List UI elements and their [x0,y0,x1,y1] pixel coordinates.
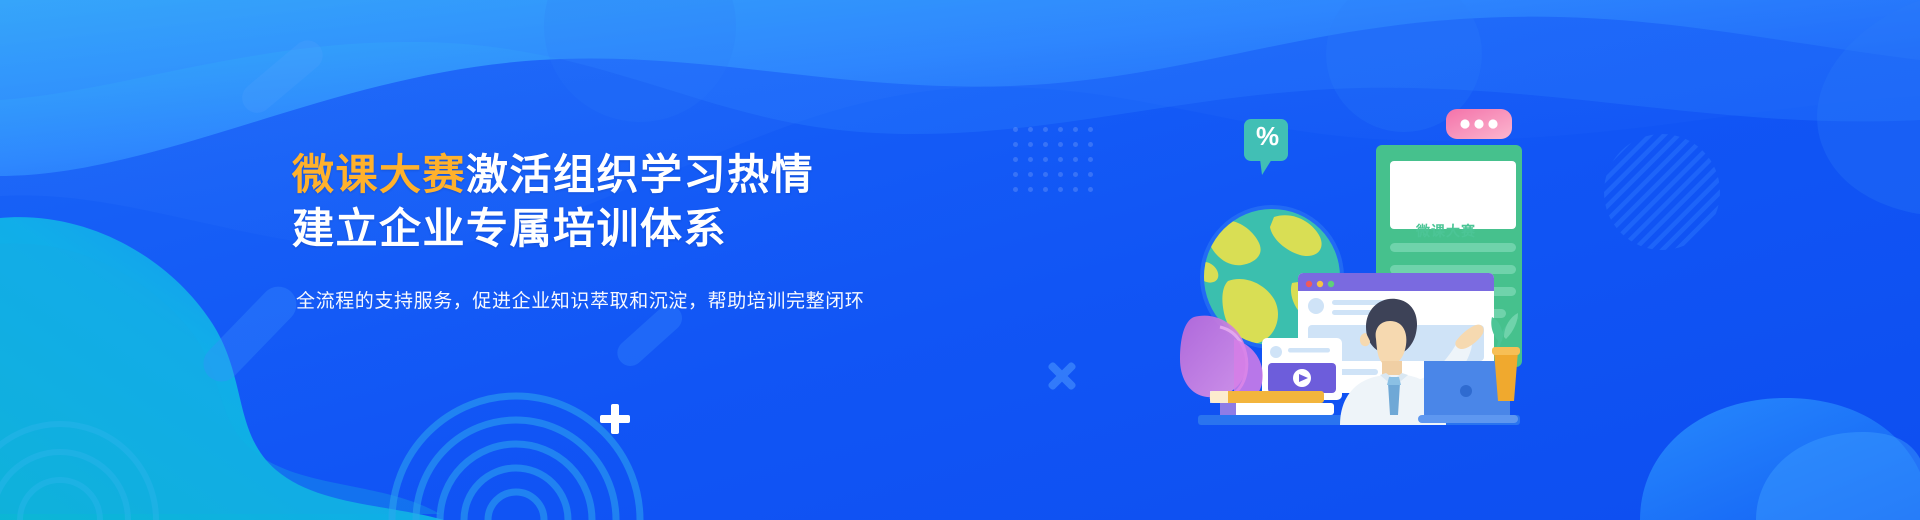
headline-line-1: 微课大赛激活组织学习热情 [292,148,1012,202]
chat-bubble-icon [1446,109,1512,139]
headline-rest: 激活组织学习热情 [466,151,814,198]
headline-highlight: 微课大赛 [292,151,466,198]
plus-icon [600,404,630,434]
close-icon [1046,360,1078,392]
percent-badge-label: % [1256,123,1279,149]
banner-copy: 微课大赛激活组织学习热情 建立企业专属培训体系 全流程的支持服务，促进企业知识萃… [292,148,1012,316]
striped-circle [1604,134,1720,250]
whiteboard-label: 微课大赛 [1416,221,1476,241]
banner-subtitle: 全流程的支持服务，促进企业知识萃取和沉淀，帮助培训完整闭环 [296,288,1012,316]
headline-line-2: 建立企业专属培训体系 [292,202,1012,256]
hero-illustration: 微课大赛 % [1180,95,1520,425]
promo-banner: 微课大赛激活组织学习热情 建立企业专属培训体系 全流程的支持服务，促进企业知识萃… [0,0,1920,520]
dot-grid-decoration [1008,122,1098,197]
video-card [1262,338,1342,400]
books-stack [1210,391,1334,415]
